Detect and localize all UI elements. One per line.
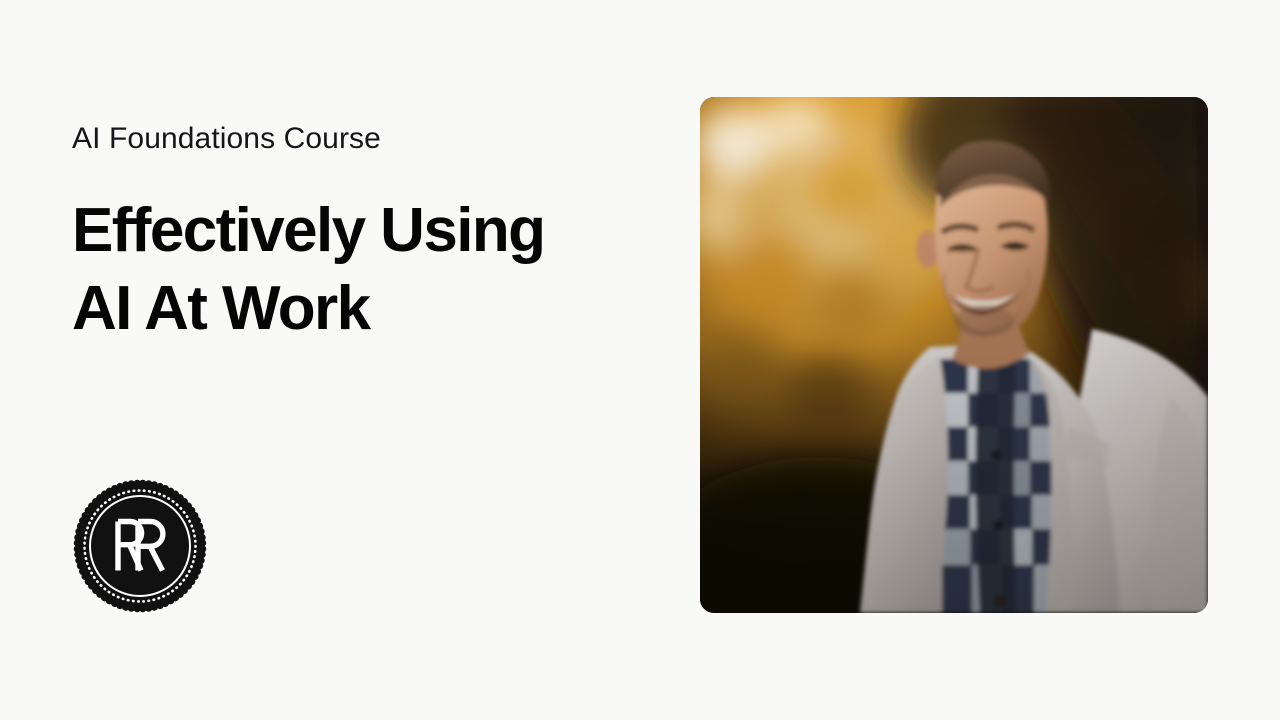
rr-monogram-badge-icon <box>72 478 208 614</box>
brand-logo <box>72 478 208 614</box>
course-eyebrow-label: AI Foundations Course <box>72 120 381 158</box>
headline-line-2: AI At Work <box>72 270 692 348</box>
page-title: Effectively Using AI At Work <box>72 192 692 348</box>
slide-canvas: AI Foundations Course Effectively Using … <box>0 0 1280 720</box>
instructor-photo-image <box>700 97 1208 613</box>
instructor-photo <box>700 97 1208 613</box>
headline-line-1: Effectively Using <box>72 192 692 270</box>
